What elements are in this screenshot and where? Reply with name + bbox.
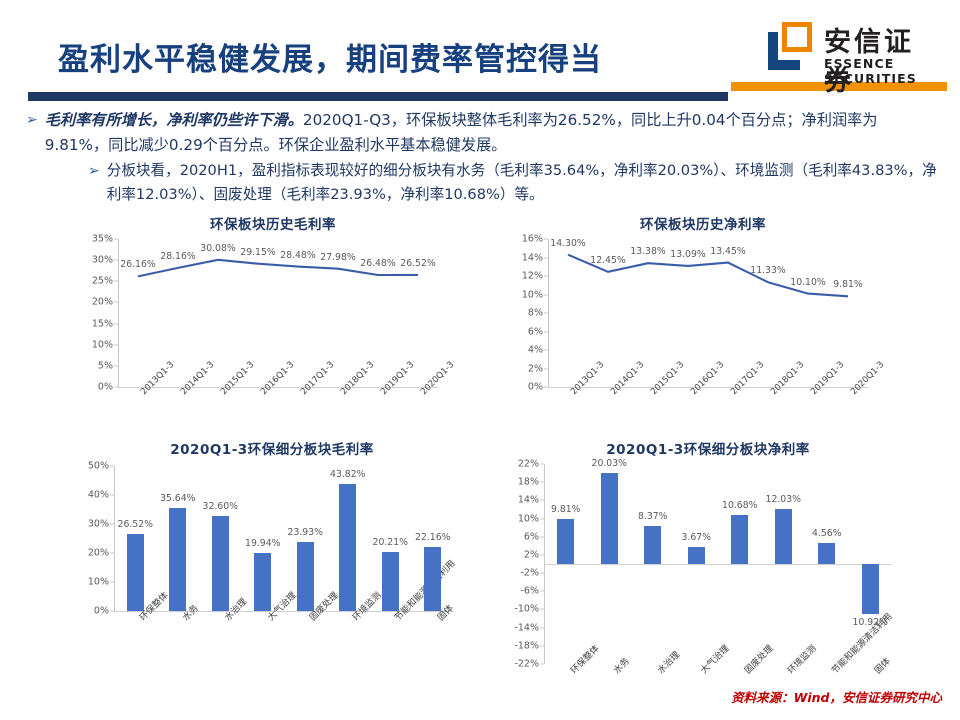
arrow-bullet-icon: ➢ [26,108,38,133]
data-point-label: 10.10% [790,277,825,288]
bar-value-label: 3.67% [681,532,711,543]
bar [424,547,441,611]
data-point-label: 30.08% [200,243,235,254]
y-tick-mark [540,554,544,555]
bar [339,484,356,611]
y-tick-label: 2% [528,363,543,374]
x-tick-label: 固废处理 [741,642,776,677]
y-tick-label: 8% [528,308,543,319]
plot-area-segment-net-margin: 22%18%14%10%6%2%-2%-6%-10%-14%-18%-22%环保… [544,464,892,664]
y-tick-mark [110,524,114,525]
y-tick-label: 16% [522,234,543,245]
arrow-bullet-icon-2: ➢ [88,159,100,184]
y-tick-mark [540,664,544,665]
chart-segment-gross-margin: 2020Q1-3环保细分板块毛利率0%10%20%30%40%50%环保整体水务… [72,438,472,663]
y-tick-label: 30% [92,255,113,266]
y-tick-label: 35% [92,234,113,245]
y-tick-label: 12% [522,271,543,282]
y-tick-label: 18% [518,477,539,488]
bar-value-label: 20.03% [592,458,627,469]
data-point-label: 14.30% [550,238,585,249]
y-tick-mark [540,464,544,465]
data-point-label: 13.09% [670,249,705,260]
bar-value-label: 35.64% [160,493,195,504]
bar-value-label: 10.68% [722,500,757,511]
y-tick-label: 10% [518,513,539,524]
bar-value-label: 9.81% [551,504,581,515]
y-tick-label: 14% [518,495,539,506]
x-tick-label: 环境监测 [784,642,819,677]
x-tick-label: 环保整体 [567,642,602,677]
y-tick-label: 6% [524,531,539,542]
y-tick-mark [540,609,544,610]
bar [731,515,748,564]
y-tick-label: 10% [92,339,113,350]
bar [644,526,661,564]
chart-title-segment-gross-margin: 2020Q1-3环保细分板块毛利率 [72,438,472,458]
data-point-label: 26.52% [400,258,435,269]
y-tick-mark [110,553,114,554]
body-text: ➢ 毛利率有所增长，净利率仍些许下滑。2020Q1-Q3，环保板块整体毛利率为2… [26,108,938,207]
logo-mark-icon [766,22,818,72]
data-point-label: 26.48% [360,258,395,269]
bar [557,519,574,564]
page-title: 盈利水平稳健发展，期间费率管控得当 [58,34,602,79]
x-tick-label: 固体 [871,654,893,676]
bar-value-label: 10.92% [853,617,888,628]
plot-area-hist-gross-margin: 0%5%10%15%20%25%30%35%2013Q1-32014Q1-320… [118,239,438,387]
data-point-label: 28.16% [160,251,195,262]
y-tick-label: 2% [524,549,539,560]
y-tick-label: 50% [88,461,109,472]
y-tick-mark [540,573,544,574]
y-tick-label: 20% [88,548,109,559]
bar-value-label: 4.56% [812,528,842,539]
chart-title-segment-net-margin: 2020Q1-3环保细分板块净利率 [498,438,918,458]
y-tick-mark [540,500,544,501]
y-tick-label: 22% [518,459,539,470]
y-tick-label: -18% [514,640,539,651]
plot-area-segment-gross-margin: 0%10%20%30%40%50%环保整体水务水治理大气治理固废处理环境监测节能… [114,466,454,611]
y-tick-label: 0% [528,382,543,393]
data-point-label: 26.16% [120,259,155,270]
y-tick-label: 20% [92,297,113,308]
data-point-label: 9.81% [833,279,863,290]
bar [775,509,792,564]
bar-value-label: 8.37% [638,511,668,522]
data-point-label: 27.98% [320,252,355,263]
paragraph-1-lead: 毛利率有所增长，净利率仍些许下滑。 [45,111,303,129]
data-point-label: 11.33% [750,265,785,276]
paragraph-1-text: 毛利率有所增长，净利率仍些许下滑。2020Q1-Q3，环保板块整体毛利率为26.… [45,108,938,158]
logo-blue-l-icon [768,32,800,70]
y-tick-mark [540,591,544,592]
bar [382,552,399,611]
bar-value-label: 12.03% [766,494,801,505]
bar [297,542,314,611]
data-point-label: 29.15% [240,247,275,258]
header-rule-navy [28,92,728,101]
x-tick-label: 水务 [610,654,632,676]
y-tick-label: 5% [98,360,113,371]
y-tick-label: 40% [88,490,109,501]
y-tick-label: -2% [521,568,540,579]
bar [127,534,144,611]
bar-value-label: 43.82% [330,469,365,480]
bar [601,473,618,564]
y-tick-mark [110,582,114,583]
bar-value-label: 23.93% [288,527,323,538]
chart-hist-gross-margin: 环保板块历史毛利率0%5%10%15%20%25%30%35%2013Q1-32… [78,213,468,428]
y-tick-mark [110,495,114,496]
y-tick-label: 30% [88,519,109,530]
chart-segment-net-margin: 2020Q1-3环保细分板块净利率22%18%14%10%6%2%-2%-6%-… [498,438,918,678]
bar [818,543,835,564]
y-tick-label: -14% [514,622,539,633]
bar-value-label: 20.21% [373,537,408,548]
data-point-label: 13.38% [630,246,665,257]
bar [862,564,879,614]
chart-title-hist-net-margin: 环保板块历史净利率 [508,213,898,233]
y-tick-mark [540,536,544,537]
data-point-label: 28.48% [280,250,315,261]
y-axis-line [114,466,115,611]
source-note: 资料来源：Wind，安信证券研究中心 [731,687,942,706]
y-tick-label: 14% [522,252,543,263]
y-tick-mark [540,482,544,483]
y-tick-label: 10% [88,577,109,588]
bullet-paragraph-2: ➢ 分板块看，2020H1，盈利指标表现较好的细分板块有水务（毛利率35.64%… [88,159,938,207]
chart-hist-net-margin: 环保板块历史净利率0%2%4%6%8%10%12%14%16%2013Q1-32… [508,213,898,428]
y-tick-label: -10% [514,604,539,615]
paragraph-2-text: 分板块看，2020H1，盈利指标表现较好的细分板块有水务（毛利率35.64%，净… [107,159,938,207]
y-tick-label: 6% [528,326,543,337]
y-tick-mark [540,645,544,646]
bar [169,508,186,611]
bar [212,516,229,611]
y-tick-label: 0% [98,382,113,393]
bar-value-label: 32.60% [203,501,238,512]
plot-area-hist-net-margin: 0%2%4%6%8%10%12%14%16%2013Q1-32014Q1-320… [548,239,868,387]
y-tick-mark [540,627,544,628]
data-point-label: 13.45% [710,246,745,257]
x-tick-label: 水治理 [654,648,682,676]
y-tick-mark [540,518,544,519]
bar [688,547,705,564]
y-tick-label: 25% [92,276,113,287]
y-tick-label: -22% [514,659,539,670]
y-tick-label: -6% [521,586,540,597]
logo-english-name: ESSENCE SECURITIES [824,56,942,86]
y-tick-label: 0% [94,606,109,617]
bar [254,553,271,611]
bar-value-label: 26.52% [118,519,153,530]
data-point-label: 12.45% [590,255,625,266]
y-tick-label: 15% [92,318,113,329]
chart-title-hist-gross-margin: 环保板块历史毛利率 [78,213,468,233]
y-tick-mark [110,466,114,467]
bar-value-label: 22.16% [415,532,450,543]
y-tick-label: 10% [522,289,543,300]
slide: 盈利水平稳健发展，期间费率管控得当 安信证券 ESSENCE SECURITIE… [0,0,960,720]
bar-value-label: 19.94% [245,538,280,549]
bullet-paragraph-1: ➢ 毛利率有所增长，净利率仍些许下滑。2020Q1-Q3，环保板块整体毛利率为2… [26,108,938,158]
y-tick-label: 4% [528,345,543,356]
x-axis-line [544,564,892,565]
x-tick-label: 大气治理 [697,642,732,677]
company-logo: 安信证券 ESSENCE SECURITIES [766,20,942,80]
